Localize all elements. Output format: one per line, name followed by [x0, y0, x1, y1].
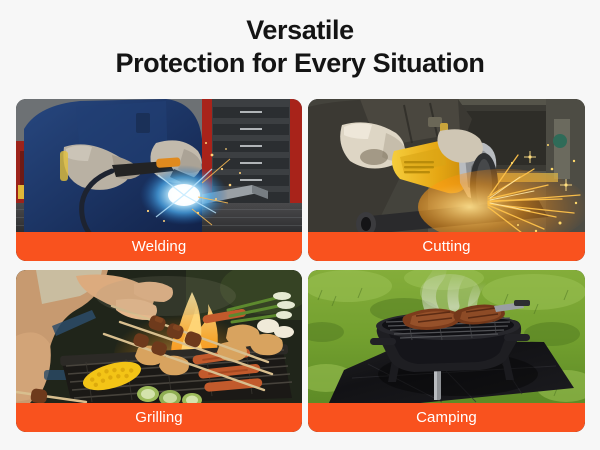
page-title-line-1: Versatile — [0, 14, 600, 47]
use-case-card-camping[interactable]: Camping — [308, 270, 585, 432]
use-case-label-welding: Welding — [16, 232, 302, 261]
camping-photo — [308, 270, 585, 405]
use-case-label-grilling: Grilling — [16, 403, 302, 432]
use-case-card-grid: Welding — [16, 99, 585, 432]
use-case-label-camping: Camping — [308, 403, 585, 432]
page-title: Versatile Protection for Every Situation — [0, 0, 600, 80]
use-case-card-welding[interactable]: Welding — [16, 99, 302, 261]
page-title-line-2: Protection for Every Situation — [0, 47, 600, 80]
use-case-label-cutting: Cutting — [308, 232, 585, 261]
use-case-card-grilling[interactable]: Grilling — [16, 270, 302, 432]
feature-grid-page: Versatile Protection for Every Situation — [0, 0, 600, 450]
use-case-card-cutting[interactable]: Cutting — [308, 99, 585, 261]
cutting-photo — [308, 99, 585, 234]
grilling-photo — [16, 270, 302, 405]
welding-photo — [16, 99, 302, 234]
